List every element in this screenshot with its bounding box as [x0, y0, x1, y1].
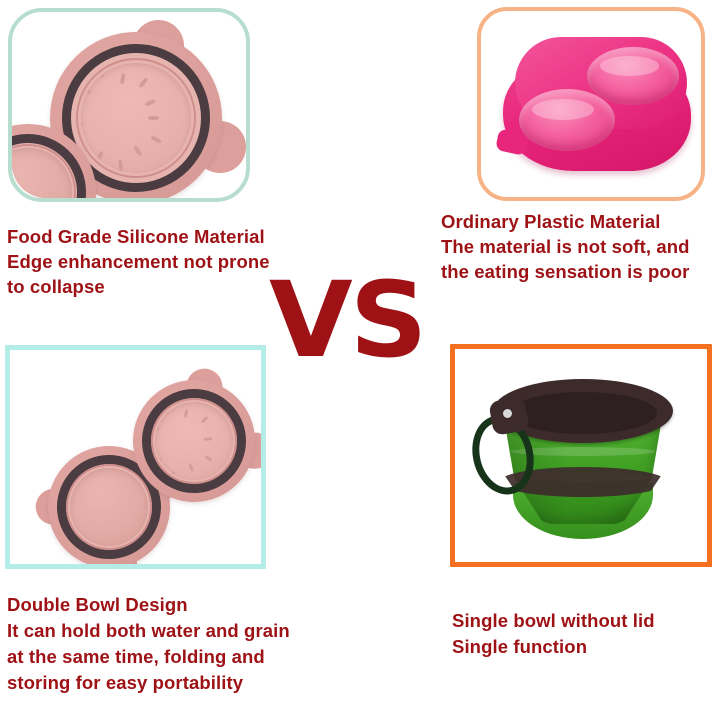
double-silicone-bowl-image	[10, 350, 261, 564]
caption-line: The material is not soft, and	[441, 234, 690, 259]
caption-line: Edge enhancement not prone	[7, 249, 270, 274]
caption-line: storing for easy portability	[7, 670, 290, 696]
caption-line: Single function	[452, 634, 655, 660]
panel-top-left	[8, 8, 250, 202]
green-collapsible-bowl-image	[455, 349, 707, 562]
caption-top-right: Ordinary Plastic Material The material i…	[441, 209, 690, 284]
panel-bottom-right	[450, 344, 712, 567]
caption-line: at the same time, folding and	[7, 644, 290, 670]
bowl-cup-front	[519, 89, 615, 151]
vs-label: VS	[269, 268, 424, 372]
carabiner-pin	[503, 409, 512, 418]
plastic-double-bowl-graphic	[501, 37, 693, 177]
caption-top-left: Food Grade Silicone Material Edge enhanc…	[7, 224, 270, 299]
caption-line: the eating sensation is poor	[441, 259, 690, 284]
caption-bottom-right: Single bowl without lid Single function	[452, 608, 655, 660]
bowl-rim-inner	[509, 392, 657, 434]
caption-line: Ordinary Plastic Material	[441, 209, 690, 234]
silicone-lid-closeup-image	[12, 12, 246, 198]
bowl-cup-rear	[587, 47, 679, 105]
caption-line: It can hold both water and grain	[7, 618, 290, 644]
comparison-infographic: Food Grade Silicone Material Edge enhanc…	[0, 0, 720, 720]
caption-line: Double Bowl Design	[7, 592, 290, 618]
plastic-double-bowl-image	[481, 11, 701, 197]
panel-top-right	[477, 7, 705, 201]
green-collapsible-bowl-graphic	[479, 379, 685, 539]
caption-line: Single bowl without lid	[452, 608, 655, 634]
caption-line: Food Grade Silicone Material	[7, 224, 270, 249]
caption-bottom-left: Double Bowl Design It can hold both wate…	[7, 592, 290, 696]
panel-bottom-left	[5, 345, 266, 569]
lid-face	[81, 63, 191, 173]
caption-line: to collapse	[7, 274, 270, 299]
